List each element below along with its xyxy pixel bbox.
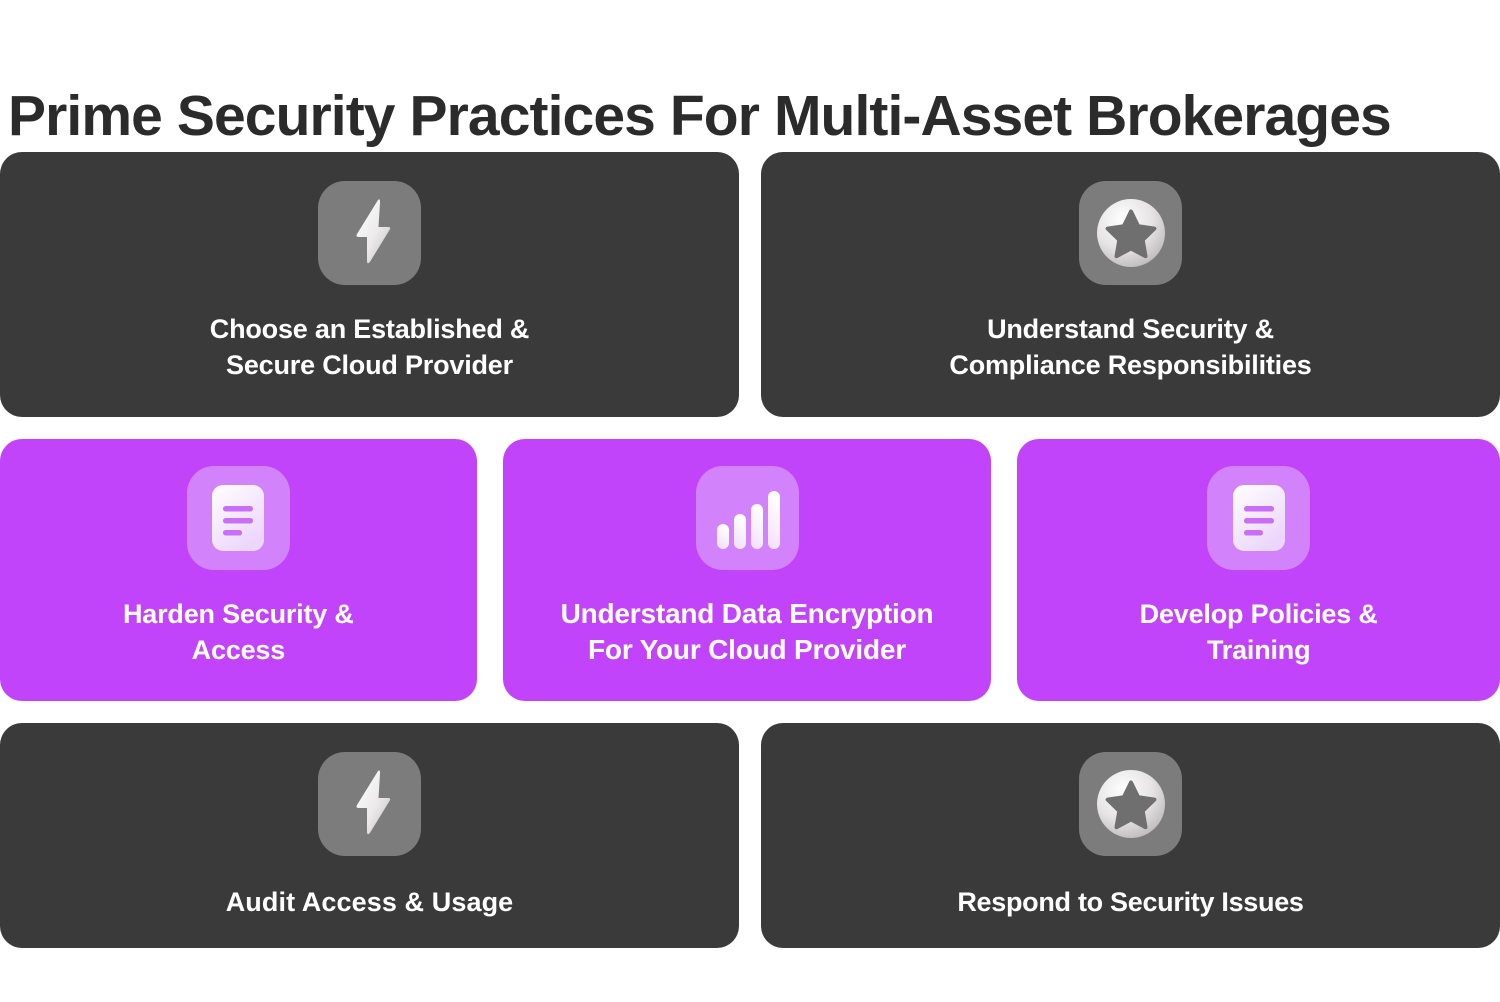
card-label: Develop Policies & Training (1017, 596, 1500, 668)
card-row-3: Audit Access & Usage (0, 723, 1500, 948)
infographic-page: Prime Security Practices For Multi-Asset… (0, 0, 1500, 1002)
card-label: Respond to Security Issues (761, 884, 1500, 920)
card-understand-data-encryption[interactable]: Understand Data Encryption For Your Clou… (503, 439, 992, 701)
card-audit-access-usage[interactable]: Audit Access & Usage (0, 723, 739, 948)
card-understand-compliance[interactable]: Understand Security & Compliance Respons… (761, 152, 1500, 417)
card-label: Understand Security & Compliance Respons… (761, 311, 1500, 383)
card-respond-security-issues[interactable]: Respond to Security Issues (761, 723, 1500, 948)
card-label: Harden Security & Access (0, 596, 477, 668)
star-badge-icon (1079, 181, 1182, 285)
card-develop-policies-training[interactable]: Develop Policies & Training (1017, 439, 1500, 701)
page-title: Prime Security Practices For Multi-Asset… (8, 85, 1492, 147)
star-badge-icon (1079, 752, 1182, 856)
card-grid: Choose an Established & Secure Cloud Pro… (0, 152, 1500, 948)
document-icon (1207, 466, 1310, 570)
lightning-bolt-icon (318, 752, 421, 856)
lightning-bolt-icon (318, 181, 421, 285)
card-row-2: Harden Security & Access (0, 439, 1500, 701)
card-harden-security-access[interactable]: Harden Security & Access (0, 439, 477, 701)
card-choose-cloud-provider[interactable]: Choose an Established & Secure Cloud Pro… (0, 152, 739, 417)
card-label: Choose an Established & Secure Cloud Pro… (0, 311, 739, 383)
card-label: Audit Access & Usage (0, 884, 739, 920)
bar-chart-icon (696, 466, 799, 570)
document-icon (187, 466, 290, 570)
card-row-1: Choose an Established & Secure Cloud Pro… (0, 152, 1500, 417)
card-label: Understand Data Encryption For Your Clou… (503, 596, 992, 668)
